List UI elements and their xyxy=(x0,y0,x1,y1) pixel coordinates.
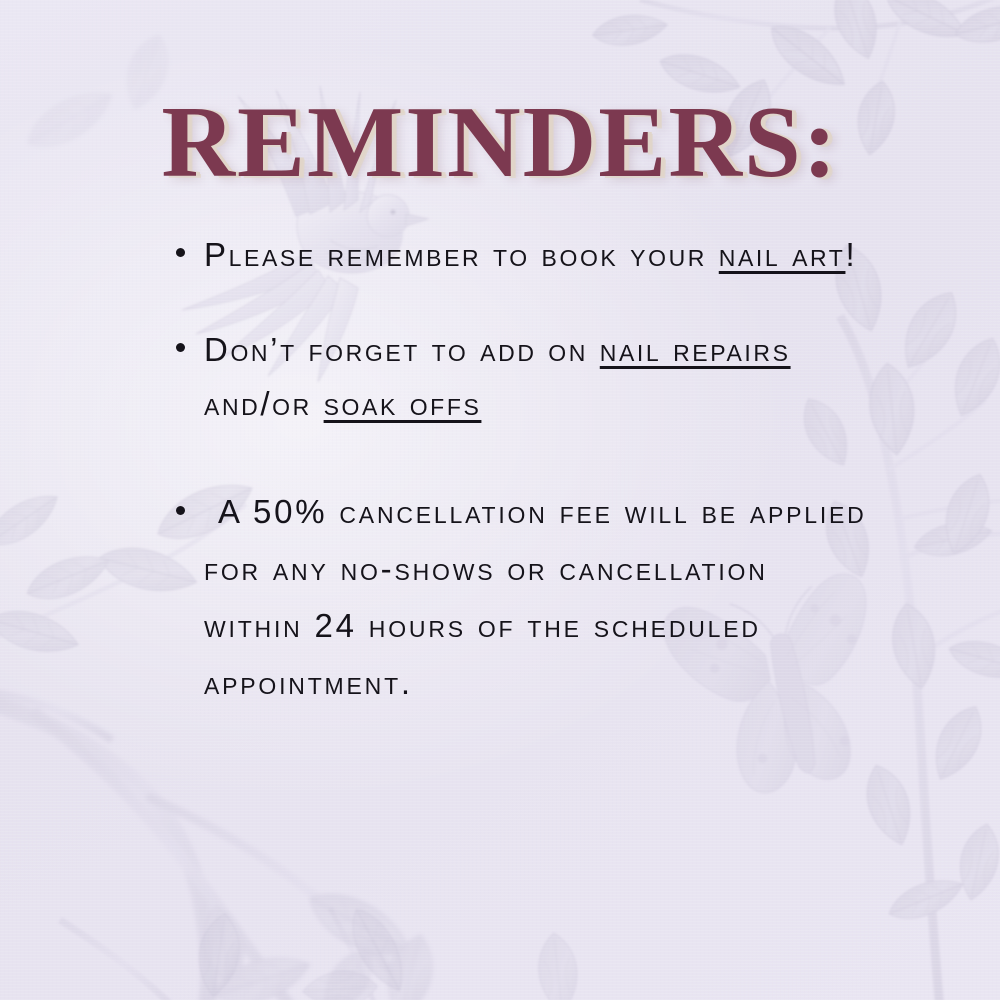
bullet-2-seg-0: D xyxy=(204,331,230,368)
list-item: Don’t forget to add on nail repairs and/… xyxy=(168,323,868,430)
list-item-text: A 50% cancellation fee will be applied f… xyxy=(204,493,867,700)
bullet-2-seg-4-underlined: soak offs xyxy=(324,385,482,422)
bullet-1-seg-0: P xyxy=(204,236,229,273)
reminders-poster: REMINDERS: Please remember to book your … xyxy=(0,0,1000,1000)
list-item: Please remember to book your nail art! xyxy=(168,228,868,281)
list-item-text: Please remember to book your nail art! xyxy=(204,236,857,273)
bullet-1-seg-1: lease remember to book your xyxy=(229,236,719,273)
bullet-2-seg-1: on’t forget to add on xyxy=(230,331,599,368)
poster-content: REMINDERS: Please remember to book your … xyxy=(0,0,1000,1000)
bullet-marker xyxy=(176,248,185,257)
bullet-3-seg-0: A 50% xyxy=(204,493,327,530)
list-item: A 50% cancellation fee will be applied f… xyxy=(168,484,868,711)
reminders-list: Please remember to book your nail art! D… xyxy=(168,228,868,711)
bullet-1-seg-3: ! xyxy=(845,236,857,273)
bullet-2-seg-3: and/or xyxy=(204,385,324,422)
bullet-marker xyxy=(176,343,185,352)
list-item-text: Don’t forget to add on nail repairs and/… xyxy=(204,331,791,421)
page-title: REMINDERS: xyxy=(0,92,1000,194)
bullet-marker xyxy=(176,506,185,515)
bullet-3-seg-2: 24 xyxy=(315,607,357,644)
bullet-1-seg-2-underlined: nail art xyxy=(719,236,846,273)
bullet-2-seg-2-underlined: nail repairs xyxy=(600,331,791,368)
